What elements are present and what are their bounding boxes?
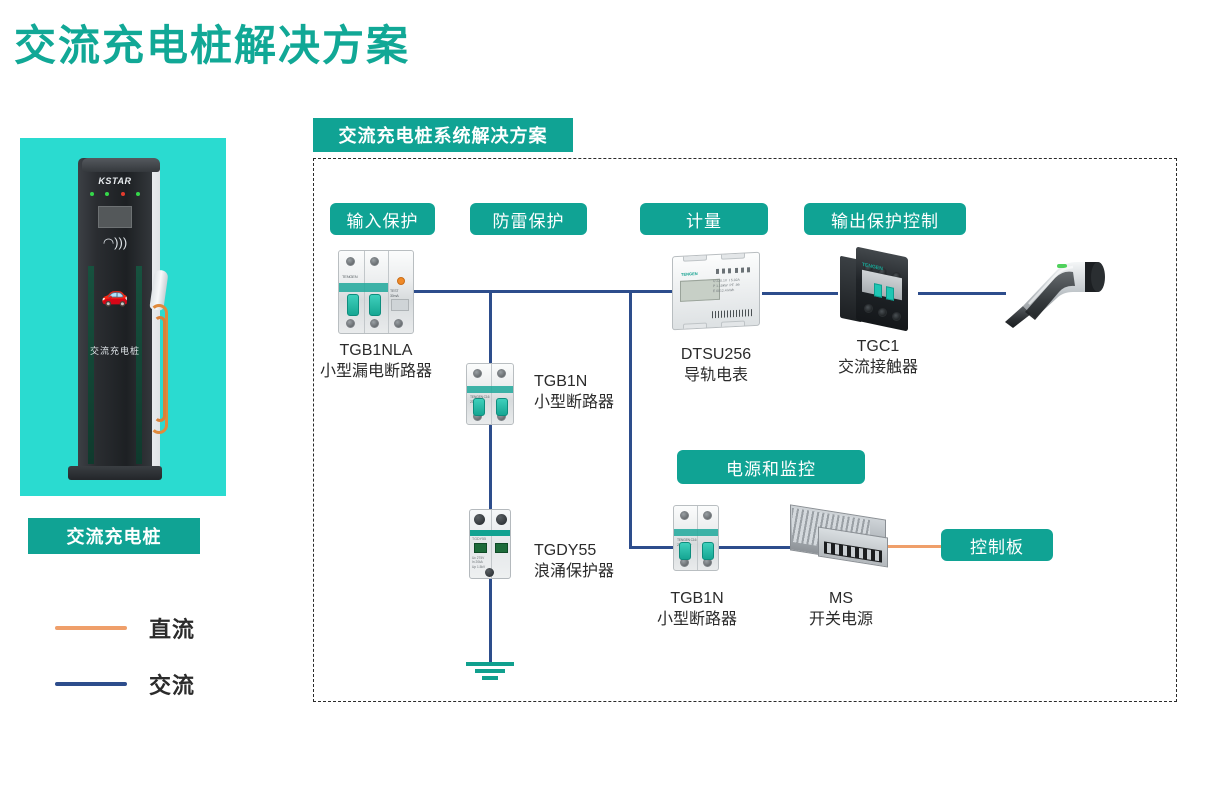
wire-ac-branch-to-mcb-surge (489, 290, 492, 364)
label-mcb-psu-model: TGB1N (640, 588, 754, 609)
component-switching-psu-photo (790, 506, 890, 574)
legend-item-dc: 直流 (55, 612, 195, 644)
wire-ac-meter-to-contactor (762, 292, 838, 295)
pile-status-leds (90, 192, 140, 196)
label-spd-model: TGDY55 (534, 540, 596, 561)
section-badge-metering: 计量 (640, 203, 768, 235)
pile-display-screen (98, 206, 132, 228)
wire-ac-to-mcb-psu (629, 546, 675, 549)
label-contactor-model: TGC1 (808, 336, 948, 357)
component-mcb-psu-photo: TENGEN C16230/400V~ (673, 505, 719, 571)
label-contactor-desc: 交流接触器 (808, 357, 948, 378)
section-badge-power-and-monitoring: 电源和监控 (677, 450, 865, 484)
label-meter-desc: 导轨电表 (645, 365, 787, 386)
ev-connector-icon (995, 252, 1115, 332)
wire-ac-main-bus-left (410, 290, 680, 293)
wire-ac-mcb-to-psu (716, 546, 792, 549)
legend-label-ac: 交流 (149, 668, 195, 700)
label-rcbo-model: TGB1NLA (303, 340, 449, 361)
pile-base (68, 466, 162, 480)
pile-brand-logo: KSTAR (78, 176, 152, 186)
diagram-page: 交流充电桩解决方案 KSTAR ◠))) 🚗 交流充电桩 (0, 0, 1213, 812)
pile-cable-and-gun (150, 270, 172, 440)
label-mcb-surge-desc: 小型断路器 (534, 392, 614, 413)
label-psu-model: MS (785, 588, 897, 609)
pile-vertical-text: 交流充电桩 (78, 344, 152, 359)
pile-body: KSTAR ◠))) 🚗 交流充电桩 (78, 158, 152, 470)
wire-ac-spd-to-ground (489, 578, 492, 666)
pile-top-cap (82, 158, 160, 172)
wire-ac-contactor-to-gun (918, 292, 1006, 295)
charging-pile-illustration: KSTAR ◠))) 🚗 交流充电桩 (72, 152, 172, 482)
label-psu-desc: 开关电源 (785, 609, 897, 630)
ev-car-plug-icon: 🚗 (78, 284, 152, 306)
page-title: 交流充电桩解决方案 (14, 22, 410, 70)
label-mcb-surge-model: TGB1N (534, 371, 587, 392)
ev-charging-connector (995, 252, 1115, 332)
rfid-wave-icon: ◠))) (78, 236, 152, 249)
label-meter-model: DTSU256 (645, 344, 787, 365)
led-red (121, 192, 125, 196)
control-board-badge: 控制板 (941, 529, 1053, 561)
led-green-2 (105, 192, 109, 196)
legend-swatch-ac (55, 682, 127, 686)
component-spd-photo: TGDY55 Uc 275VIn 20kAUp 1.5kV (469, 509, 511, 579)
legend-swatch-dc (55, 626, 127, 630)
product-photo: KSTAR ◠))) 🚗 交流充电桩 (20, 138, 226, 496)
legend-label-dc: 直流 (149, 612, 195, 644)
pile-cable-coil-inner (154, 316, 166, 422)
led-green-1 (90, 192, 94, 196)
component-mcb-surge-photo: TENGEN C16230/400V~ (466, 363, 514, 425)
label-rcbo-desc: 小型漏电断路器 (303, 361, 449, 382)
wire-ac-branch-to-psu-line (629, 290, 632, 549)
component-rcbo-photo: TENGEN TEST30mA (338, 250, 414, 334)
label-mcb-psu-desc: 小型断路器 (640, 609, 754, 630)
section-badge-output-protection-control: 输出保护控制 (804, 203, 966, 235)
component-contactor-photo: TENGEN (840, 252, 916, 334)
label-spd-desc: 浪涌保护器 (534, 561, 614, 582)
led-green-3 (136, 192, 140, 196)
section-badge-input-protection: 输入保护 (330, 203, 435, 235)
diagram-header-badge: 交流充电桩系统解决方案 (313, 118, 573, 152)
section-badge-surge-protection: 防雷保护 (470, 203, 587, 235)
ground-symbol (466, 662, 514, 683)
legend-item-ac: 交流 (55, 668, 195, 700)
wire-ac-mcb-to-spd (489, 424, 492, 510)
component-meter-photo: TENGEN U 220.1V I 5.02AP 1.10kW PF .99E … (672, 254, 760, 328)
product-caption-badge: 交流充电桩 (28, 518, 200, 554)
